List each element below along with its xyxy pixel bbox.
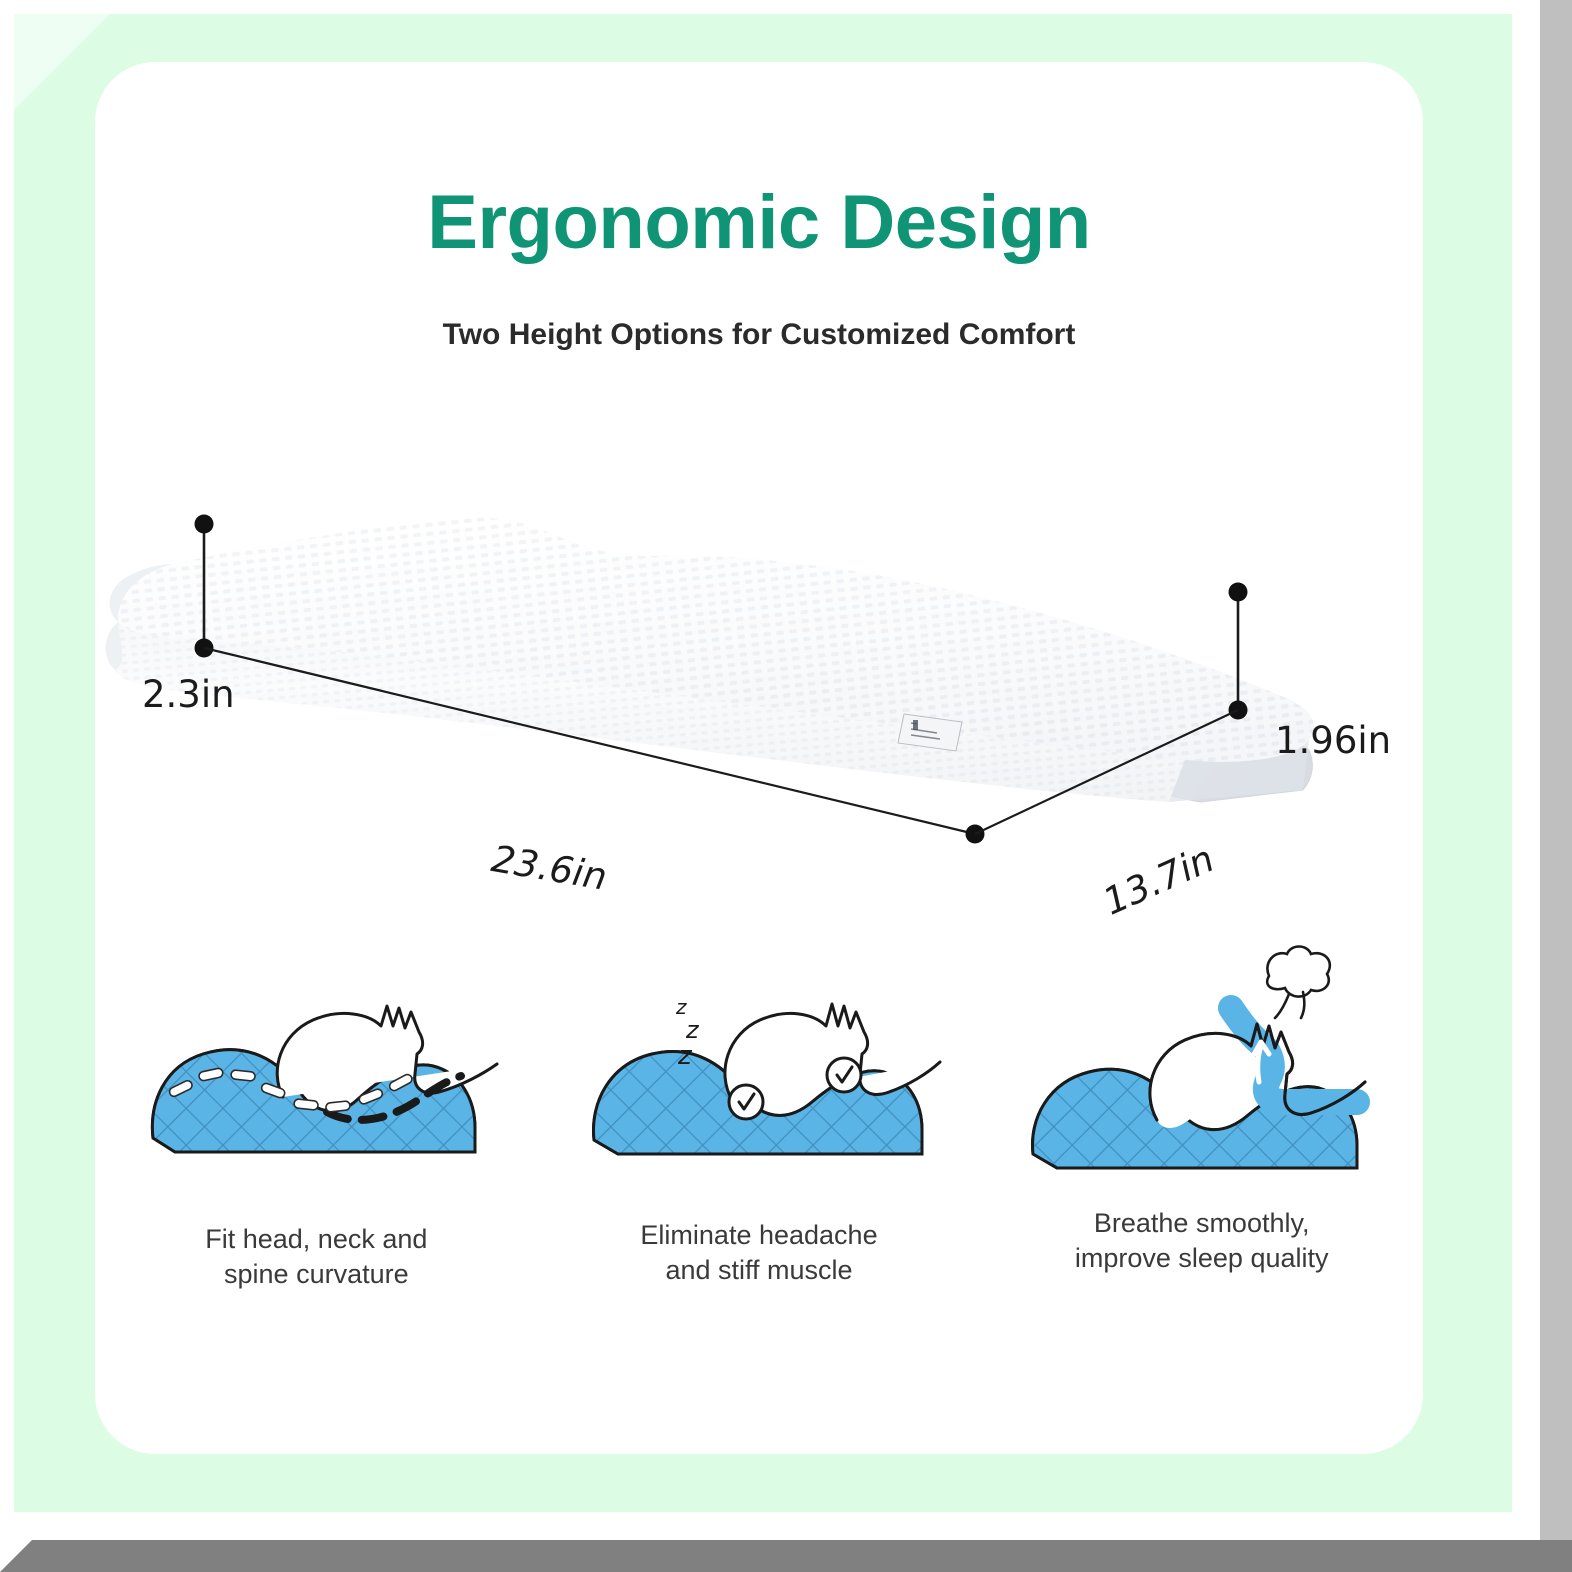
content-card: Ergonomic Design Two Height Options for …: [95, 62, 1423, 1454]
breath-cloud-icon: [1267, 947, 1330, 1019]
sleeping-head-checkmarks-icon: z z z: [574, 942, 944, 1202]
dimension-label-height-right: 1.96in: [1275, 722, 1391, 759]
frame-bevel-right: [1540, 0, 1572, 1572]
page-subtitle: Two Height Options for Customized Comfor…: [95, 320, 1423, 350]
benefit-item-fit-curvature: Fit head, neck and spine curvature: [95, 942, 538, 1291]
pillow-dimension-drawing: [95, 502, 1423, 922]
frame-bevel-bottom: [0, 1540, 1572, 1572]
svg-text:z: z: [685, 1016, 700, 1044]
dimension-label-height-left: 2.3in: [142, 676, 235, 713]
head-on-contour-pillow-icon: [131, 942, 501, 1202]
page-title: Ergonomic Design: [95, 185, 1423, 261]
check-badge-shoulder: [827, 1058, 861, 1092]
benefit-item-eliminate-headache: z z z Eliminate headache and stiff muscl: [538, 942, 981, 1291]
product-infographic-frame: Ergonomic Design Two Height Options for …: [0, 0, 1572, 1572]
product-hero: 2.3in 1.96in 23.6in 13.7in: [95, 502, 1423, 922]
check-badge-neck: [729, 1085, 763, 1119]
benefits-row: Fit head, neck and spine curvature: [95, 942, 1423, 1291]
benefit-caption: Breathe smoothly, improve sleep quality: [1075, 1206, 1329, 1275]
benefit-caption: Fit head, neck and spine curvature: [205, 1222, 427, 1291]
benefit-item-breathe-smoothly: Breathe smoothly, improve sleep quality: [980, 942, 1423, 1291]
open-airway-breathing-icon: [1017, 942, 1387, 1202]
head-fill: [1150, 1033, 1243, 1128]
benefit-caption: Eliminate headache and stiff muscle: [640, 1218, 877, 1287]
svg-text:z: z: [677, 1041, 693, 1071]
